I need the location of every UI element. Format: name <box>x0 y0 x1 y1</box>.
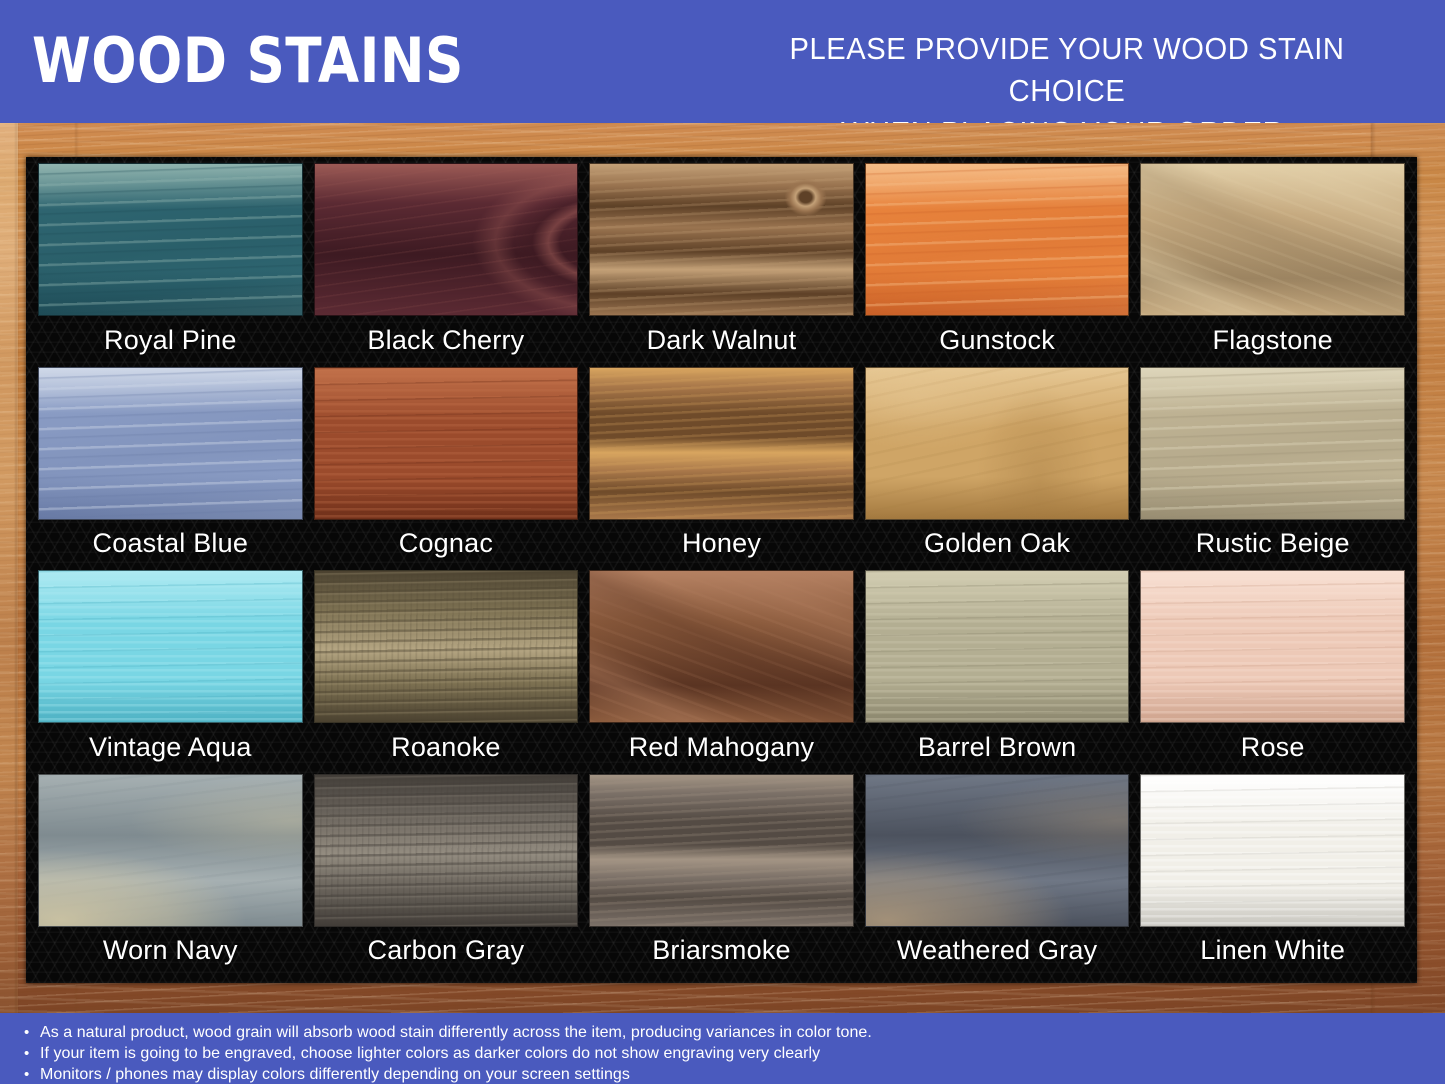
wood-grain-texture <box>39 164 302 315</box>
stain-swatch[interactable] <box>589 367 854 520</box>
stain-name-label: Flagstone <box>1140 316 1405 367</box>
wood-grain-texture <box>39 775 302 926</box>
wood-grain-texture <box>590 368 853 519</box>
bullet-icon: • <box>24 1064 40 1084</box>
stain-cell[interactable]: Roanoke <box>314 570 579 774</box>
stain-cell[interactable]: Dark Walnut <box>589 163 854 367</box>
disclaimer-note: •As a natural product, wood grain will a… <box>24 1022 1445 1043</box>
stain-swatch[interactable] <box>589 163 854 316</box>
stain-swatch[interactable] <box>865 163 1130 316</box>
stain-grid-panel: Royal PineBlack CherryDark WalnutGunstoc… <box>26 157 1417 983</box>
stain-swatch[interactable] <box>865 570 1130 723</box>
stain-name-label: Black Cherry <box>314 316 579 367</box>
wood-grain-texture <box>590 164 853 315</box>
stain-name-label: Rose <box>1140 723 1405 774</box>
stain-swatch[interactable] <box>865 367 1130 520</box>
stain-swatch-grid: Royal PineBlack CherryDark WalnutGunstoc… <box>38 163 1405 977</box>
wood-grain-texture <box>315 368 578 519</box>
wood-grain-texture <box>866 368 1129 519</box>
stain-swatch[interactable] <box>38 570 303 723</box>
stain-cell[interactable]: Rustic Beige <box>1140 367 1405 571</box>
disclaimer-note-text: Monitors / phones may display colors dif… <box>40 1064 1445 1084</box>
page-title: WOOD STAINS <box>32 26 464 96</box>
stain-name-label: Weathered Gray <box>865 927 1130 978</box>
stain-name-label: Cognac <box>314 520 579 571</box>
wood-grain-texture <box>1141 571 1404 722</box>
stain-cell[interactable]: Red Mahogany <box>589 570 854 774</box>
stain-swatch[interactable] <box>38 163 303 316</box>
stain-cell[interactable]: Briarsmoke <box>589 774 854 978</box>
stain-name-label: Dark Walnut <box>589 316 854 367</box>
stain-swatch[interactable] <box>1140 163 1405 316</box>
stain-name-label: Linen White <box>1140 927 1405 978</box>
stain-swatch[interactable] <box>38 367 303 520</box>
wood-grain-texture <box>315 164 578 315</box>
stain-cell[interactable]: Barrel Brown <box>865 570 1130 774</box>
stain-swatch[interactable] <box>38 774 303 927</box>
stain-cell[interactable]: Rose <box>1140 570 1405 774</box>
stain-name-label: Gunstock <box>865 316 1130 367</box>
stain-swatch[interactable] <box>314 163 579 316</box>
stain-cell[interactable]: Golden Oak <box>865 367 1130 571</box>
stain-name-label: Coastal Blue <box>38 520 303 571</box>
header-bar: WOOD STAINS PLEASE PROVIDE YOUR WOOD STA… <box>0 0 1445 123</box>
stain-cell[interactable]: Coastal Blue <box>38 367 303 571</box>
stain-swatch[interactable] <box>314 774 579 927</box>
stain-cell[interactable]: Linen White <box>1140 774 1405 978</box>
stain-name-label: Vintage Aqua <box>38 723 303 774</box>
wood-grain-texture <box>590 571 853 722</box>
stain-swatch[interactable] <box>314 367 579 520</box>
stain-name-label: Worn Navy <box>38 927 303 978</box>
stain-cell[interactable]: Gunstock <box>865 163 1130 367</box>
stain-name-label: Golden Oak <box>865 520 1130 571</box>
stain-cell[interactable]: Honey <box>589 367 854 571</box>
stain-swatch[interactable] <box>1140 570 1405 723</box>
stain-swatch[interactable] <box>1140 774 1405 927</box>
disclaimer-note: •Monitors / phones may display colors di… <box>24 1064 1445 1084</box>
stain-name-label: Barrel Brown <box>865 723 1130 774</box>
stain-name-label: Honey <box>589 520 854 571</box>
bullet-icon: • <box>24 1022 40 1043</box>
wood-grain-texture <box>1141 775 1404 926</box>
stain-name-label: Red Mahogany <box>589 723 854 774</box>
stain-cell[interactable]: Carbon Gray <box>314 774 579 978</box>
stain-cell[interactable]: Cognac <box>314 367 579 571</box>
stain-cell[interactable]: Flagstone <box>1140 163 1405 367</box>
stain-name-label: Royal Pine <box>38 316 303 367</box>
bullet-icon: • <box>24 1043 40 1064</box>
stain-swatch[interactable] <box>314 570 579 723</box>
wood-grain-texture <box>315 571 578 722</box>
wood-stains-chart: WOOD STAINS PLEASE PROVIDE YOUR WOOD STA… <box>0 0 1445 1084</box>
stain-swatch[interactable] <box>589 774 854 927</box>
disclaimer-notes-bar: •As a natural product, wood grain will a… <box>0 1013 1445 1084</box>
stain-cell[interactable]: Weathered Gray <box>865 774 1130 978</box>
header-instruction-line-1: PLEASE PROVIDE YOUR WOOD STAIN CHOICE <box>789 31 1344 108</box>
stain-name-label: Briarsmoke <box>589 927 854 978</box>
disclaimer-note-text: As a natural product, wood grain will ab… <box>40 1022 1445 1043</box>
stain-swatch[interactable] <box>589 570 854 723</box>
stain-cell[interactable]: Black Cherry <box>314 163 579 367</box>
wood-grain-texture <box>866 775 1129 926</box>
wood-grain-texture <box>315 775 578 926</box>
stain-cell[interactable]: Worn Navy <box>38 774 303 978</box>
stain-swatch[interactable] <box>865 774 1130 927</box>
stain-swatch[interactable] <box>1140 367 1405 520</box>
disclaimer-note-text: If your item is going to be engraved, ch… <box>40 1043 1445 1064</box>
wood-grain-texture <box>1141 368 1404 519</box>
wood-grain-texture <box>590 775 853 926</box>
stain-cell[interactable]: Royal Pine <box>38 163 303 367</box>
wood-grain-texture <box>1141 164 1404 315</box>
stain-name-label: Carbon Gray <box>314 927 579 978</box>
wood-grain-texture <box>866 164 1129 315</box>
stain-name-label: Rustic Beige <box>1140 520 1405 571</box>
wood-grain-texture <box>39 368 302 519</box>
disclaimer-note: •If your item is going to be engraved, c… <box>24 1043 1445 1064</box>
wood-grain-texture <box>39 571 302 722</box>
stain-cell[interactable]: Vintage Aqua <box>38 570 303 774</box>
stain-name-label: Roanoke <box>314 723 579 774</box>
wood-grain-texture <box>866 571 1129 722</box>
